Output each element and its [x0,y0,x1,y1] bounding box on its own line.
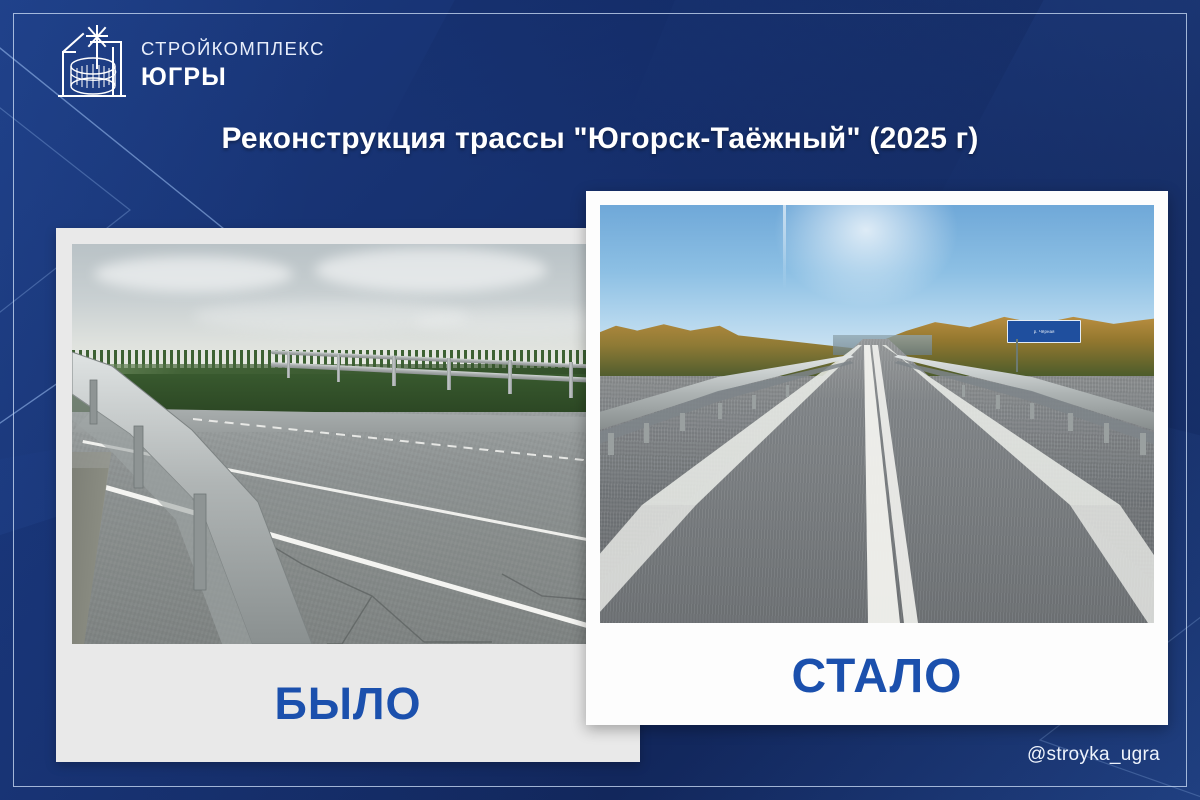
photo-after: р. Чёрная [600,205,1154,623]
guardrails [600,205,1154,623]
social-handle: @stroyka_ugra [1027,744,1160,766]
card-after-caption: СТАЛО [600,649,1154,704]
road-sign: р. Чёрная [1007,320,1081,343]
page-title: Реконструкция трассы "Югорск-Таёжный" (2… [0,122,1200,156]
card-after: р. Чёрная СТАЛО [586,191,1168,725]
photo-after-scene: р. Чёрная [600,205,1154,623]
road-sign-post [1016,339,1018,372]
card-before: БЫЛО [56,228,640,762]
guardrail-left [72,244,624,644]
photo-before-scene [72,244,624,644]
brand-logo: СТРОЙКОМПЛЕКС ЮГРЫ [57,22,325,104]
photo-before [72,244,624,644]
card-before-caption: БЫЛО [72,678,624,730]
brand-name-line2: ЮГРЫ [141,65,325,90]
poster-root: СТРОЙКОМПЛЕКС ЮГРЫ Реконструкция трассы … [0,0,1200,800]
stroykompleks-logo-icon [57,22,127,104]
brand-name-line1: СТРОЙКОМПЛЕКС [141,40,325,59]
